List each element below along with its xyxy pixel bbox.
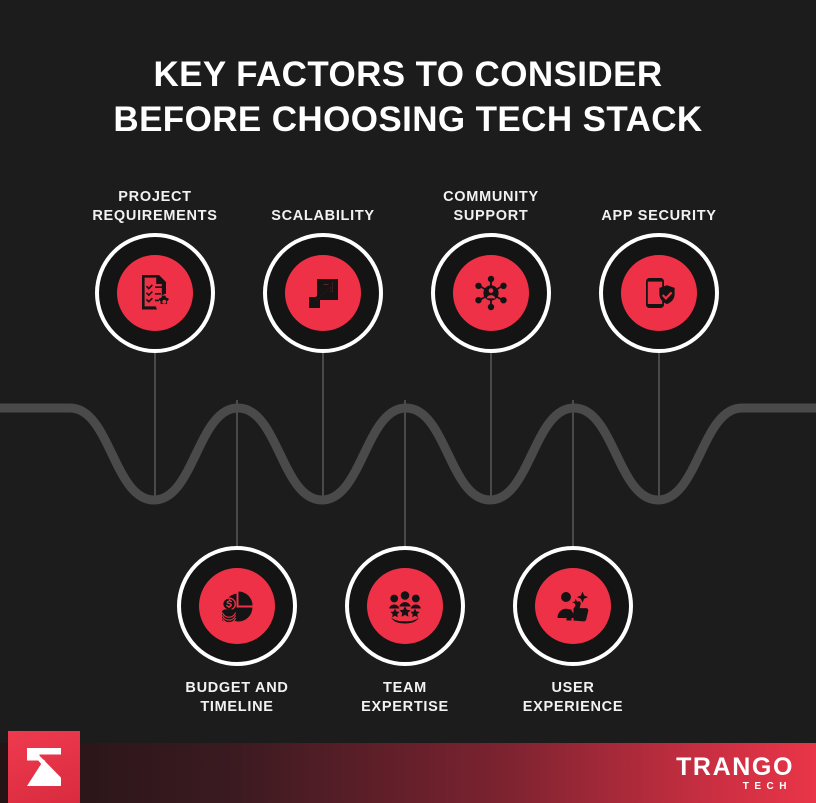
label-line-1: USER: [463, 679, 683, 698]
label-line-2: EXPERIENCE: [463, 698, 683, 717]
node-disc: [285, 255, 361, 331]
page-title: KEY FACTORS TO CONSIDER BEFORE CHOOSING …: [0, 52, 816, 142]
node-community-support[interactable]: [431, 233, 551, 353]
checklist-gear-icon: [133, 271, 177, 315]
infographic-canvas: KEY FACTORS TO CONSIDER BEFORE CHOOSING …: [0, 0, 816, 803]
node-disc: [535, 568, 611, 644]
label-user-experience: USER EXPERIENCE: [463, 679, 683, 717]
wave-connector: [0, 330, 816, 560]
trango-logo-mark[interactable]: [8, 731, 80, 803]
brand-sub: TECH: [676, 780, 792, 793]
node-disc: [117, 255, 193, 331]
pie-chart-coins-icon: [215, 584, 259, 628]
node-app-security[interactable]: [599, 233, 719, 353]
brand-lockup: TRANGO TECH: [676, 754, 794, 793]
phone-shield-icon: [637, 271, 681, 315]
label-line-1: PROJECT: [45, 188, 265, 207]
label-app-security: APP SECURITY: [549, 207, 769, 226]
node-team-expertise[interactable]: [345, 546, 465, 666]
node-disc: [199, 568, 275, 644]
title-line-1: KEY FACTORS TO CONSIDER: [0, 52, 816, 97]
trango-arrow-logo: [19, 742, 69, 792]
network-people-icon: [469, 271, 513, 315]
expand-arrow-icon: [301, 271, 345, 315]
node-scalability[interactable]: [263, 233, 383, 353]
node-disc: [367, 568, 443, 644]
node-budget-and-timeline[interactable]: [177, 546, 297, 666]
label-line-1: APP SECURITY: [549, 207, 769, 226]
title-line-2: BEFORE CHOOSING TECH STACK: [0, 97, 816, 142]
node-user-experience[interactable]: [513, 546, 633, 666]
node-disc: [453, 255, 529, 331]
user-thumbsup-icon: [551, 584, 595, 628]
footer-spacer: [0, 725, 816, 743]
team-stars-icon: [383, 584, 427, 628]
node-disc: [621, 255, 697, 331]
node-project-requirements[interactable]: [95, 233, 215, 353]
label-line-1: COMMUNITY: [381, 188, 601, 207]
brand-name: TRANGO: [676, 754, 794, 780]
